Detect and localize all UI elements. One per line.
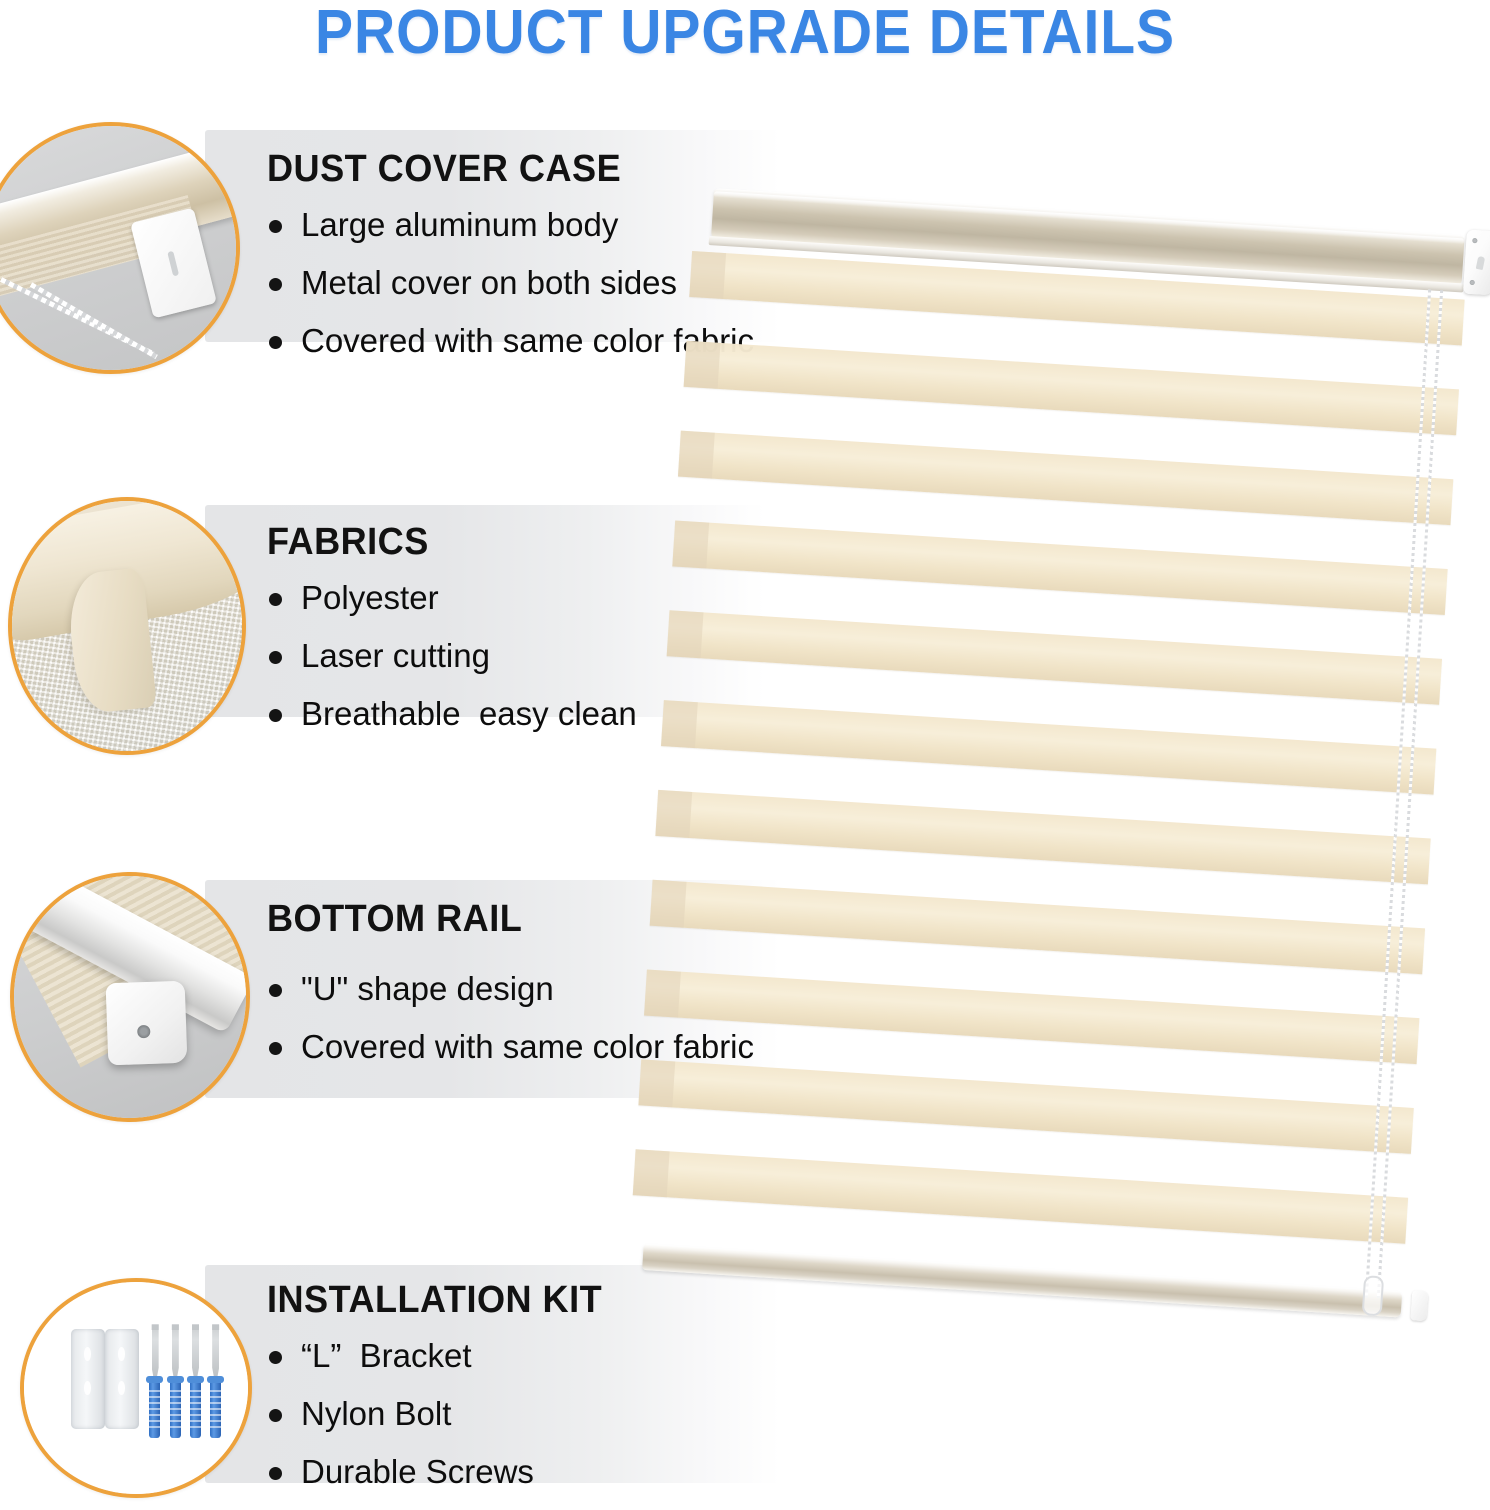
- right-end-cap: [1463, 230, 1490, 296]
- feature-panel-fabrics: FABRICS Polyester Laser cutting Breathab…: [205, 505, 765, 717]
- feature-panel-dust-cover-case: DUST COVER CASE Large aluminum body Meta…: [205, 130, 780, 342]
- nylon-bolt-icon: [170, 1380, 181, 1438]
- product-image-zebra-roller-blind: [700, 215, 1490, 1325]
- nylon-bolt-icon: [210, 1380, 221, 1438]
- fabric-band: [655, 790, 1430, 885]
- fabric-band: [684, 341, 1459, 436]
- feature-panel-installation-kit: INSTALLATION KIT “L” Bracket Nylon Bolt …: [205, 1265, 780, 1483]
- list-item: "U" shape design: [267, 968, 754, 1010]
- chain-tensioner: [1362, 1275, 1384, 1316]
- list-item: Polyester: [267, 577, 637, 619]
- list-item: Laser cutting: [267, 635, 637, 677]
- installation-kit-thumbnail: [20, 1278, 252, 1498]
- zebra-striped-fabric: [633, 249, 1472, 1296]
- bottom-rail-thumbnail: [10, 872, 250, 1122]
- dust-cover-headrail: [711, 188, 1465, 287]
- feature-title: BOTTOM RAIL: [267, 898, 522, 941]
- fabric-band: [661, 700, 1436, 795]
- feature-title: INSTALLATION KIT: [267, 1279, 602, 1322]
- feature-bullet-list: "U" shape design Covered with same color…: [267, 968, 754, 1084]
- fabric-band: [633, 1149, 1408, 1244]
- list-item: Covered with same color fabric: [267, 320, 754, 362]
- dust-cover-case-photo: [0, 126, 236, 370]
- rail-end-cap-shape: [105, 981, 187, 1066]
- nylon-bolt-icon: [190, 1380, 201, 1438]
- feature-title: FABRICS: [267, 521, 429, 564]
- fabric-band: [678, 431, 1453, 526]
- fabrics-thumbnail: [8, 497, 246, 755]
- bottom-rail-photo: [14, 876, 246, 1118]
- installation-hardware-photo: [24, 1282, 248, 1494]
- bead-chain-loop: [1362, 289, 1451, 1299]
- list-item: Breathable easy clean: [267, 693, 637, 735]
- feature-bullet-list: Large aluminum body Metal cover on both …: [267, 204, 754, 379]
- list-item: Nylon Bolt: [267, 1393, 534, 1435]
- l-bracket-icon: [71, 1329, 105, 1429]
- list-item: Metal cover on both sides: [267, 262, 754, 304]
- page-title: PRODUCT UPGRADE DETAILS: [60, 2, 1431, 64]
- list-item: Durable Screws: [267, 1451, 534, 1493]
- list-item: Large aluminum body: [267, 204, 754, 246]
- feature-title: DUST COVER CASE: [267, 148, 621, 191]
- feature-bullet-list: “L” Bracket Nylon Bolt Durable Screws: [267, 1335, 534, 1510]
- l-bracket-icon: [105, 1329, 139, 1429]
- fabric-band: [672, 520, 1447, 615]
- bottom-rail-end-cap: [1410, 1290, 1428, 1321]
- feature-panel-bottom-rail: BOTTOM RAIL "U" shape design Covered wit…: [205, 880, 780, 1098]
- dust-cover-case-thumbnail: [0, 122, 240, 374]
- bead-chain-shape: [30, 282, 158, 359]
- feature-bullet-list: Polyester Laser cutting Breathable easy …: [267, 577, 637, 752]
- fabric-band: [667, 610, 1442, 705]
- list-item: “L” Bracket: [267, 1335, 534, 1377]
- nylon-bolt-icon: [149, 1380, 160, 1438]
- fabric-band: [689, 251, 1464, 346]
- list-item: Covered with same color fabric: [267, 1026, 754, 1068]
- fabric-swatch-photo: [12, 501, 242, 751]
- headrail-lip: [709, 236, 1464, 292]
